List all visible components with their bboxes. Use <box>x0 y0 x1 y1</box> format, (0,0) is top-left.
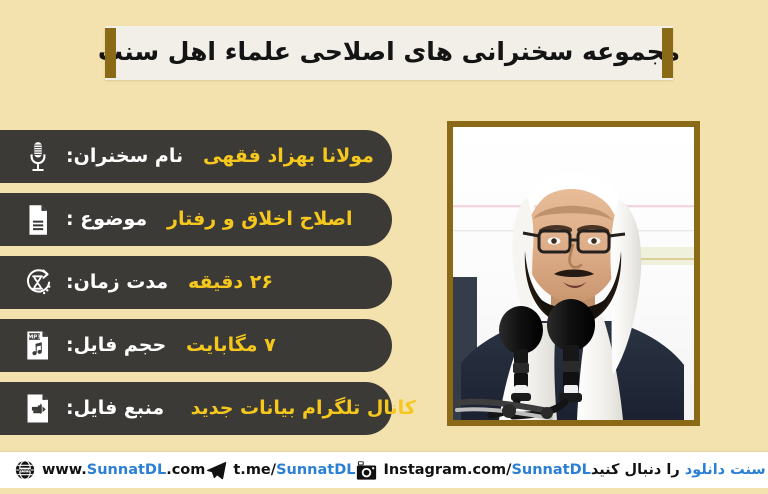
globe-icon: WWW <box>14 459 36 481</box>
banner-accent-bar-right <box>662 28 673 78</box>
info-row-filesize-text: ۷ مگابایت حجم فایل: <box>62 336 384 355</box>
footer-follow-text: سنت دانلود را دنبال کنید <box>591 463 766 478</box>
footer-bar: WWW www.SunnatDL.com t.me/SunnatDL <box>0 452 768 488</box>
info-row-speaker: مولانا بهزاد فقهی نام سخنران: <box>0 130 392 183</box>
svg-text:WWW: WWW <box>19 467 32 472</box>
footer-instagram-brand: SunnatDL <box>511 462 590 478</box>
info-row-duration-value: ۲۶ دقیقه <box>188 271 273 293</box>
page-title: مجموعه سخنرانی های اصلاحی علماء اهل سنت <box>98 39 680 67</box>
poster-canvas: مجموعه سخنرانی های اصلاحی علماء اهل سنت <box>0 0 768 494</box>
info-row-subject-label: موضوع : <box>66 208 147 230</box>
info-row-duration-label: مدت زمان: <box>66 271 168 293</box>
footer-instagram-text: Instagram.com/SunnatDL <box>383 463 590 478</box>
hourglass-timer-icon <box>14 261 62 305</box>
footer-instagram-link[interactable]: Instagram.com/SunnatDL <box>355 459 590 481</box>
document-icon <box>14 198 62 242</box>
info-row-speaker-label: نام سخنران: <box>66 145 183 167</box>
info-row-source-value: کانال تلگرام بیانات جدید <box>191 397 416 419</box>
info-row-source: کانال تلگرام بیانات جدید منبع فایل: <box>0 382 392 435</box>
info-row-source-text: کانال تلگرام بیانات جدید منبع فایل: <box>62 399 416 418</box>
footer-instagram-prefix: Instagram.com/ <box>383 462 511 478</box>
instagram-camera-icon <box>355 459 377 481</box>
info-row-source-label: منبع فایل: <box>66 397 164 419</box>
footer-website-prefix: www. <box>42 462 87 478</box>
footer-telegram-prefix: t.me/ <box>233 462 276 478</box>
footer-follow-brand: سنت دانلود <box>685 462 766 478</box>
info-row-duration: ۲۶ دقیقه مدت زمان: <box>0 256 392 309</box>
info-row-duration-text: ۲۶ دقیقه مدت زمان: <box>62 273 384 292</box>
footer-website-text: www.SunnatDL.com <box>42 463 205 478</box>
file-download-icon <box>14 387 62 431</box>
footer-website-suffix: .com <box>166 462 205 478</box>
banner-accent-bar-left <box>105 28 116 78</box>
footer-website-brand: SunnatDL <box>87 462 166 478</box>
info-list: مولانا بهزاد فقهی نام سخنران: اصلاح اخلا… <box>0 130 392 445</box>
info-row-subject-text: اصلاح اخلاق و رفتار موضوع : <box>62 210 384 229</box>
info-row-speaker-text: مولانا بهزاد فقهی نام سخنران: <box>62 147 384 166</box>
info-row-subject-value: اصلاح اخلاق و رفتار <box>167 208 352 230</box>
speaker-photo-frame <box>447 121 700 426</box>
info-row-speaker-value: مولانا بهزاد فقهی <box>203 145 374 167</box>
info-row-filesize-value: ۷ مگابایت <box>186 334 276 356</box>
info-row-filesize: MP3 ۷ مگابایت حجم فایل: <box>0 319 392 372</box>
footer-telegram-text: t.me/SunnatDL <box>233 463 355 478</box>
svg-text:MP3: MP3 <box>27 334 40 340</box>
speaker-photo <box>453 127 694 420</box>
footer-follow-suffix: را دنبال کنید <box>591 462 685 478</box>
mp3-file-icon: MP3 <box>14 324 62 368</box>
info-row-filesize-label: حجم فایل: <box>66 334 166 356</box>
header-banner: مجموعه سخنرانی های اصلاحی علماء اهل سنت <box>105 26 673 80</box>
telegram-plane-icon <box>205 459 227 481</box>
info-row-subject: اصلاح اخلاق و رفتار موضوع : <box>0 193 392 246</box>
footer-telegram-brand: SunnatDL <box>276 462 355 478</box>
footer-telegram-link[interactable]: t.me/SunnatDL <box>205 459 355 481</box>
footer-website-link[interactable]: WWW www.SunnatDL.com <box>14 459 205 481</box>
microphone-icon <box>14 135 62 179</box>
